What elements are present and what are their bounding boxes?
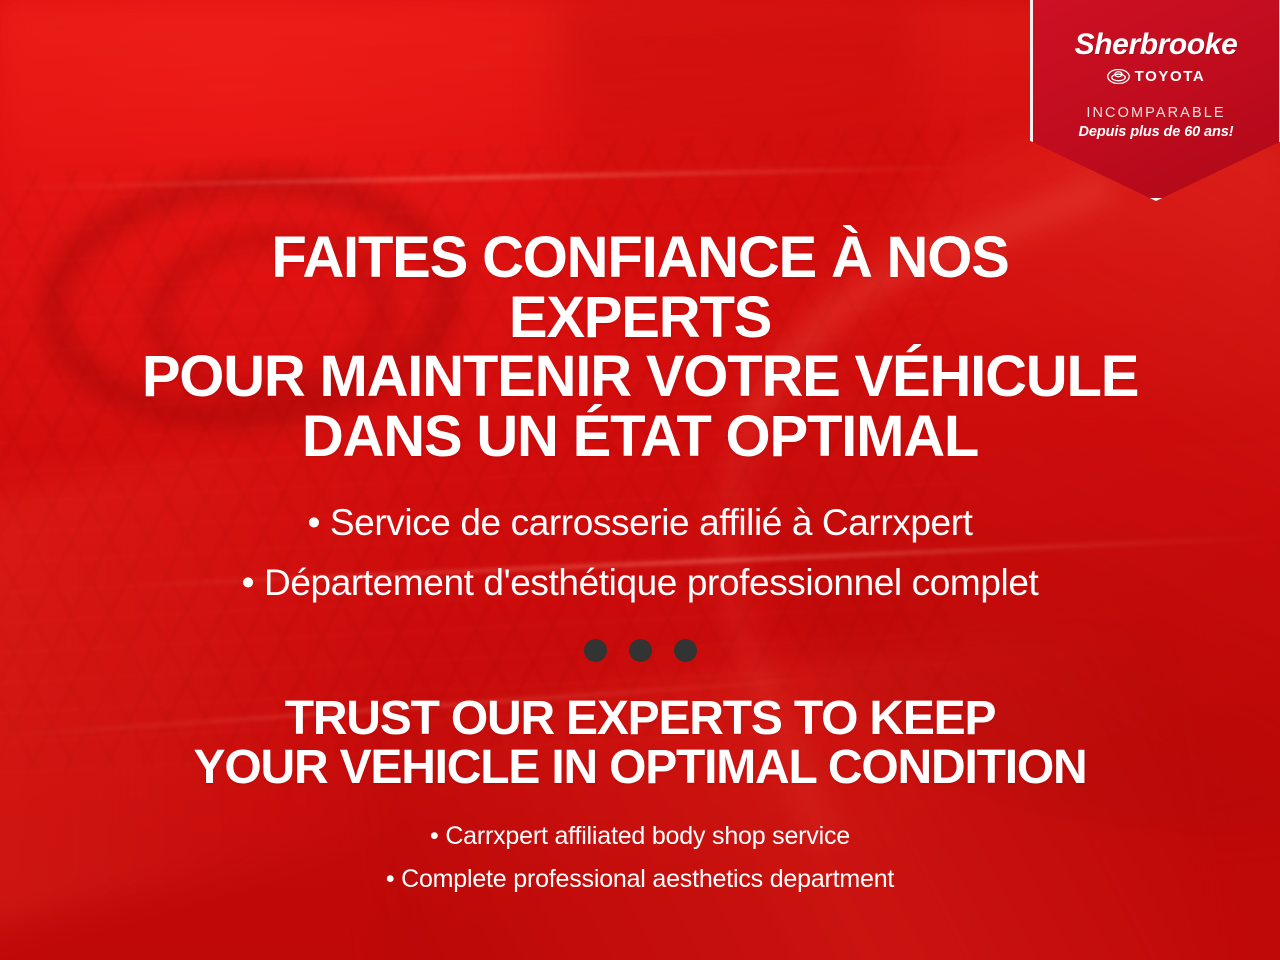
headline-french-line-1: FAITES CONFIANCE À NOS EXPERTS <box>135 228 1145 347</box>
headline-english-line-1: TRUST OUR EXPERTS TO KEEP <box>135 694 1145 743</box>
divider-dot <box>629 639 652 662</box>
headline-french: FAITES CONFIANCE À NOS EXPERTS POUR MAIN… <box>135 228 1145 467</box>
headline-english-line-2: YOUR VEHICLE IN OPTIMAL CONDITION <box>135 743 1145 792</box>
divider-dot <box>584 639 607 662</box>
bullet-item: • Service de carrosserie affilié à Carrx… <box>242 493 1039 553</box>
headline-english: TRUST OUR EXPERTS TO KEEP YOUR VEHICLE I… <box>135 694 1145 793</box>
bullet-item: • Complete professional aesthetics depar… <box>386 858 894 901</box>
section-divider-dots <box>584 639 697 662</box>
promo-content: FAITES CONFIANCE À NOS EXPERTS POUR MAIN… <box>0 0 1280 960</box>
bullet-list-french: • Service de carrosserie affilié à Carrx… <box>242 493 1039 613</box>
headline-french-line-2: POUR MAINTENIR VOTRE VÉHICULE <box>135 347 1145 407</box>
promo-banner: Sherbrooke TOYOTA INCOMPARABLE Depuis pl… <box>0 0 1280 960</box>
headline-french-line-3: DANS UN ÉTAT OPTIMAL <box>135 407 1145 467</box>
bullet-list-english: • Carrxpert affiliated body shop service… <box>386 815 894 901</box>
bullet-item: • Département d'esthétique professionnel… <box>242 553 1039 613</box>
bullet-item: • Carrxpert affiliated body shop service <box>386 815 894 858</box>
divider-dot <box>674 639 697 662</box>
